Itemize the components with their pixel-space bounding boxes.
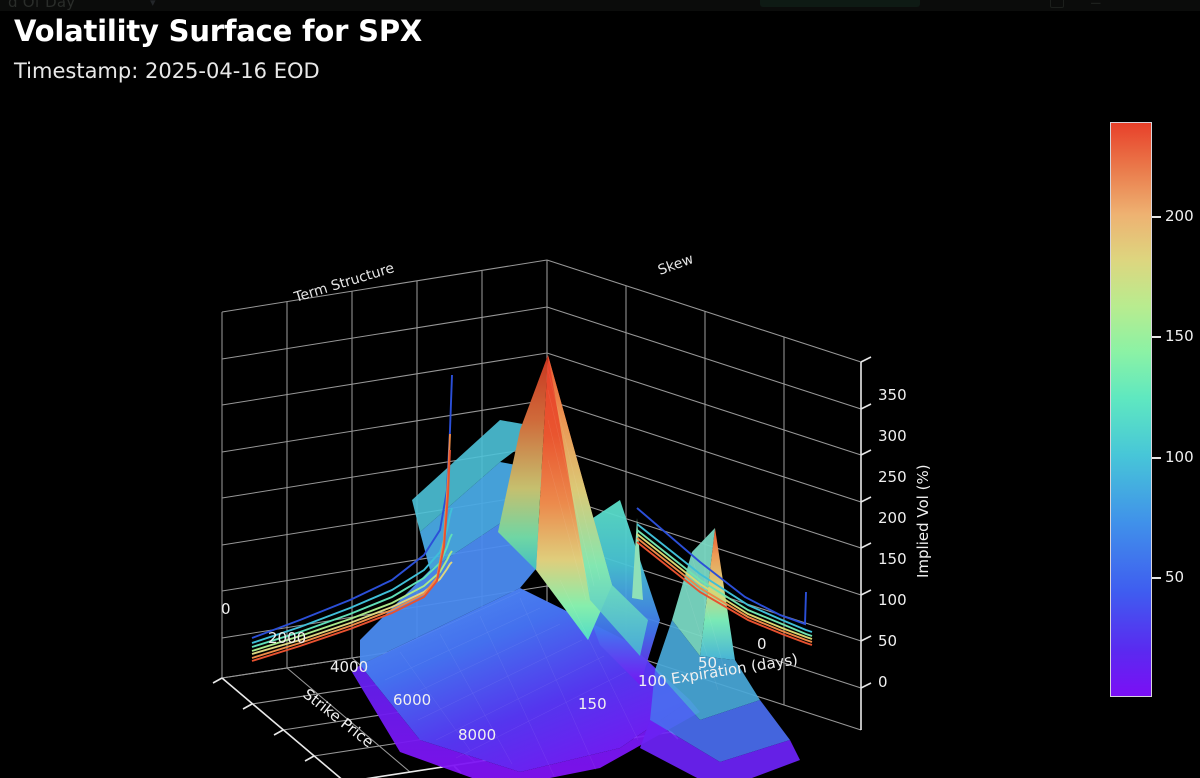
z-tick-100: 100 [878, 591, 907, 609]
chrome-overflow-label[interactable]: · · · [930, 0, 951, 8]
colorbar-tick-mark-150 [1152, 336, 1161, 338]
y-tick-150: 150 [578, 695, 607, 713]
z-axis-spine [861, 357, 871, 730]
x-tick-6000: 6000 [393, 691, 431, 709]
chrome-dropdown-label[interactable]: d Of Day [8, 0, 75, 11]
annotation-skew: Skew [656, 251, 696, 279]
z-tick-0: 0 [878, 673, 888, 691]
x-tick-0: 0 [221, 600, 231, 618]
colorbar-tick-150: 150 [1165, 327, 1194, 345]
surface-mesh [352, 355, 800, 778]
x-tick-2000: 2000 [268, 629, 306, 647]
z-tick-200: 200 [878, 509, 907, 527]
z-tick-250: 250 [878, 468, 907, 486]
z-axis-label: Implied Vol (%) [914, 464, 932, 578]
colorbar-tick-100: 100 [1165, 448, 1194, 466]
x-tick-4000: 4000 [330, 658, 368, 676]
app-chrome-strip: d Of Day ▾ · · · ☰ [0, 0, 1200, 11]
page-title: Volatility Surface for SPX [14, 14, 422, 48]
colorbar-gradient [1110, 122, 1152, 697]
chrome-menu-icon[interactable]: ☰ [1090, 0, 1102, 8]
x-tick-8000: 8000 [458, 726, 496, 744]
figure-area: Term Structure Skew 350 300 250 200 150 … [0, 100, 1200, 778]
colorbar-tick-200: 200 [1165, 207, 1194, 225]
volatility-surface-plot[interactable]: Term Structure Skew 350 300 250 200 150 … [0, 100, 1080, 778]
colorbar-tick-mark-200 [1152, 216, 1161, 218]
colorbar: 200 150 100 50 [1108, 120, 1200, 720]
colorbar-tick-mark-100 [1152, 457, 1161, 459]
chrome-highlight-pill[interactable] [760, 0, 920, 7]
chevron-down-icon[interactable]: ▾ [150, 0, 156, 9]
page-subtitle-timestamp: Timestamp: 2025-04-16 EOD [14, 59, 320, 83]
z-tick-300: 300 [878, 427, 907, 445]
z-tick-150: 150 [878, 550, 907, 568]
annotation-term-structure: Term Structure [292, 260, 397, 306]
z-tick-350: 350 [878, 386, 907, 404]
x-axis-label: Strike Price [300, 685, 378, 751]
colorbar-tick-50: 50 [1165, 568, 1184, 586]
colorbar-tick-mark-50 [1152, 577, 1161, 579]
chrome-window-icon[interactable] [1050, 0, 1064, 8]
y-tick-0: 0 [757, 635, 767, 653]
y-tick-100: 100 [638, 672, 667, 690]
z-tick-50: 50 [878, 632, 897, 650]
